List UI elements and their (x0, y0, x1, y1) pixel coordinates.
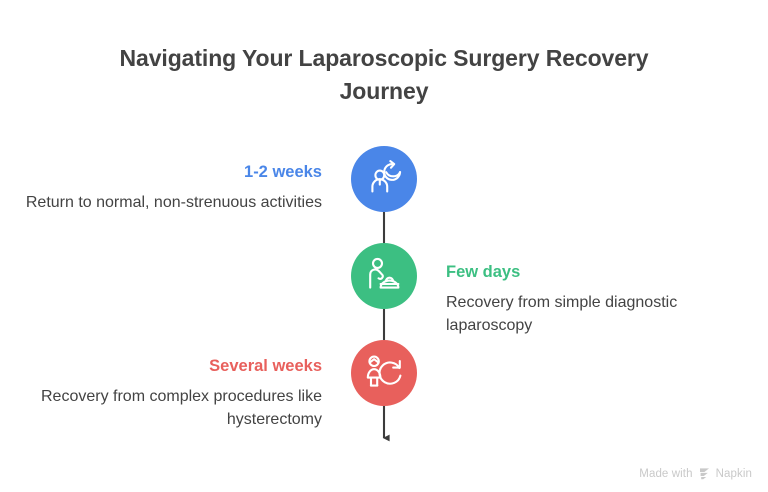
watermark-prefix-label: Made with (639, 468, 692, 480)
timeline-node-2[interactable] (351, 243, 417, 309)
timeline-period-2: Few days (446, 262, 746, 283)
timeline-text-group-2: Few days Recovery from simple diagnostic… (446, 262, 746, 338)
person-refresh-icon (363, 352, 405, 394)
watermark[interactable]: Made with Napkin (639, 467, 752, 480)
timeline-text-group-3: Several weeks Recovery from complex proc… (32, 356, 322, 432)
caregiver-patient-icon (363, 255, 405, 297)
timeline-period-3: Several weeks (32, 356, 322, 377)
infographic-canvas: Navigating Your Laparoscopic Surgery Rec… (0, 0, 768, 492)
timeline-description-1: Return to normal, non-strenuous activiti… (22, 192, 322, 215)
timeline-node-3[interactable] (351, 340, 417, 406)
timeline-description-3: Recovery from complex procedures like hy… (32, 386, 322, 431)
timeline-period-1: 1-2 weeks (22, 162, 322, 183)
watermark-brand-label: Napkin (716, 468, 752, 480)
timeline-text-group-1: 1-2 weeks Return to normal, non-strenuou… (22, 162, 322, 215)
person-rotate-icon (363, 158, 405, 200)
timeline-node-1[interactable] (351, 146, 417, 212)
page-title: Navigating Your Laparoscopic Surgery Rec… (84, 42, 684, 107)
napkin-logo-icon (698, 467, 711, 480)
timeline-description-2: Recovery from simple diagnostic laparosc… (446, 292, 746, 337)
